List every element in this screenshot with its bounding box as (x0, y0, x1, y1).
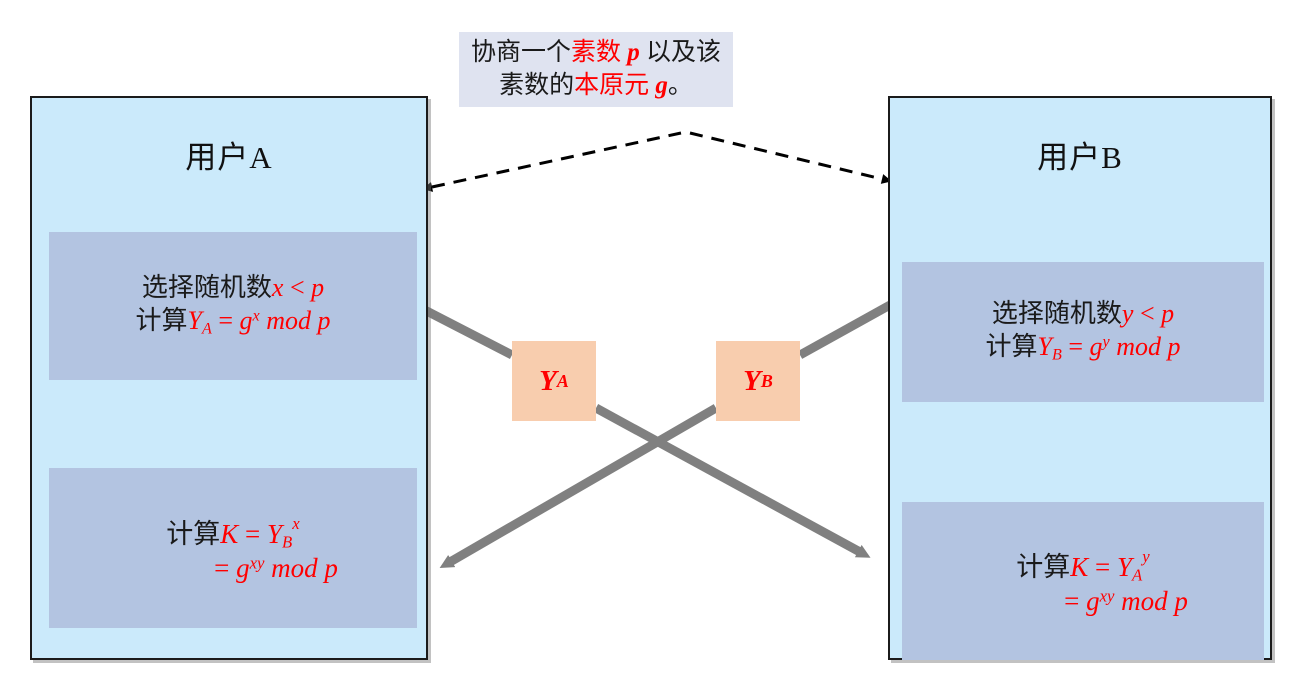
a-s1-l2-label: 计算 (136, 306, 188, 335)
b-s1-l1-label: 选择随机数 (992, 299, 1122, 328)
a-s2-l1-base: Y (267, 519, 282, 549)
chip-yb-base: Y (743, 365, 761, 398)
a-s1-l2-eq: = (212, 306, 240, 335)
b-s1-l2-label: 计算 (986, 332, 1038, 361)
diagram-canvas: 协商一个素数 p 以及该 素数的本原元 g。 用户A 选择随机数x < p 计算… (0, 0, 1303, 691)
chip-ya-base: Y (539, 365, 557, 398)
a-s1-l2-mod: mod p (260, 306, 331, 335)
b-s2-l1-label: 计算 (1016, 552, 1070, 582)
callout-l1-prefix: 协商一个 (471, 39, 571, 66)
negotiation-dashed-connector (432, 133, 882, 187)
b-s1-l1-mod: p (1161, 299, 1174, 328)
party-a-box: 用户A 选择随机数x < p 计算YA = gx mod p 计算K = YBx… (30, 96, 428, 660)
party-b-step2-line2: = gxy mod p (902, 586, 1264, 617)
a-s2-l2-mod: mod p (264, 553, 338, 583)
b-s2-l2-base: g (1086, 586, 1100, 616)
party-b-step2-line1: 计算K = YAy (902, 545, 1264, 586)
b-s2-l1-base: Y (1117, 552, 1132, 582)
party-a-step1-line2: 计算YA = gx mod p (49, 305, 417, 340)
chip-ya-sub: A (557, 371, 569, 392)
callout-l1-red-term: 素数 (571, 39, 627, 66)
b-s1-l1-rel: < (1133, 299, 1161, 328)
a-s2-l1-sub: B (282, 533, 292, 552)
party-b-step1-line1: 选择随机数y < p (902, 298, 1264, 331)
a-s1-l1-mod: p (311, 273, 324, 302)
party-b-step2-box: 计算K = YAy = gxy mod p (902, 502, 1264, 660)
b-s1-l2-lhs: Y (1038, 332, 1052, 361)
b-s1-l2-mod: mod p (1110, 332, 1181, 361)
b-s1-l2-exp: y (1103, 334, 1110, 351)
party-b-box: 用户B 选择随机数y < p 计算YB = gy mod p 计算K = YAy… (888, 96, 1272, 660)
a-s2-l1-eq: = (238, 519, 267, 549)
a-s2-l2-base: g (236, 553, 250, 583)
chip-yb: YB (716, 341, 800, 421)
callout-l2-period: 。 (668, 72, 693, 99)
b-s1-l2-eq: = (1062, 332, 1090, 361)
callout-l1-suffix: 以及该 (646, 39, 721, 66)
party-a-step2-line1: 计算K = YBx (49, 512, 417, 553)
party-b-title: 用户B (890, 132, 1270, 177)
a-s1-l1-label: 选择随机数 (142, 273, 272, 302)
b-s1-l2-lhs-sub: B (1052, 346, 1062, 363)
a-s1-l1-rel: < (283, 273, 311, 302)
a-s2-l2-eq: = (214, 553, 236, 583)
chip-ya: YA (512, 341, 596, 421)
b-s2-l1-exp: y (1142, 547, 1149, 566)
b-s2-l2-exp: xy (1100, 586, 1115, 605)
party-a-step1-box: 选择随机数x < p 计算YA = gx mod p (49, 232, 417, 380)
b-s2-l2-mod: mod p (1114, 586, 1188, 616)
a-s1-l2-lhs-sub: A (202, 320, 212, 337)
party-b-step1-box: 选择随机数y < p 计算YB = gy mod p (902, 262, 1264, 402)
a-s2-l1-k: K (220, 519, 238, 549)
b-s1-l2-base: g (1090, 332, 1103, 361)
callout-line-2: 素数的本原元 g。 (499, 70, 693, 103)
party-a-step2-line2: = gxy mod p (49, 553, 417, 584)
a-s1-l2-exp: x (253, 308, 260, 325)
a-s2-l1-label: 计算 (166, 519, 220, 549)
callout-l2-red-var: g (655, 72, 668, 99)
negotiate-prime-callout: 协商一个素数 p 以及该 素数的本原元 g。 (459, 32, 733, 107)
callout-line-1: 协商一个素数 p 以及该 (471, 37, 721, 70)
callout-l2-red-term: 本原元 (574, 72, 655, 99)
party-a-title: 用户A (32, 132, 426, 177)
party-b-step1-line2: 计算YB = gy mod p (902, 331, 1264, 366)
party-a-step1-line1: 选择随机数x < p (49, 272, 417, 305)
b-s2-l2-eq: = (1064, 586, 1086, 616)
chip-yb-sub: B (761, 371, 773, 392)
callout-l2-prefix: 素数的 (499, 72, 574, 99)
b-s2-l1-eq: = (1088, 552, 1117, 582)
a-s1-l2-lhs: Y (188, 306, 202, 335)
a-s1-l1-var: x (272, 273, 284, 302)
a-s1-l2-base: g (240, 306, 253, 335)
a-s2-l1-exp: x (292, 514, 299, 533)
party-a-step2-box: 计算K = YBx = gxy mod p (49, 468, 417, 628)
a-s2-l2-exp: xy (250, 553, 265, 572)
b-s2-l1-sub: A (1132, 566, 1142, 585)
b-s1-l1-var: y (1122, 299, 1134, 328)
b-s2-l1-k: K (1070, 552, 1088, 582)
callout-l1-red-var: p (627, 39, 640, 66)
